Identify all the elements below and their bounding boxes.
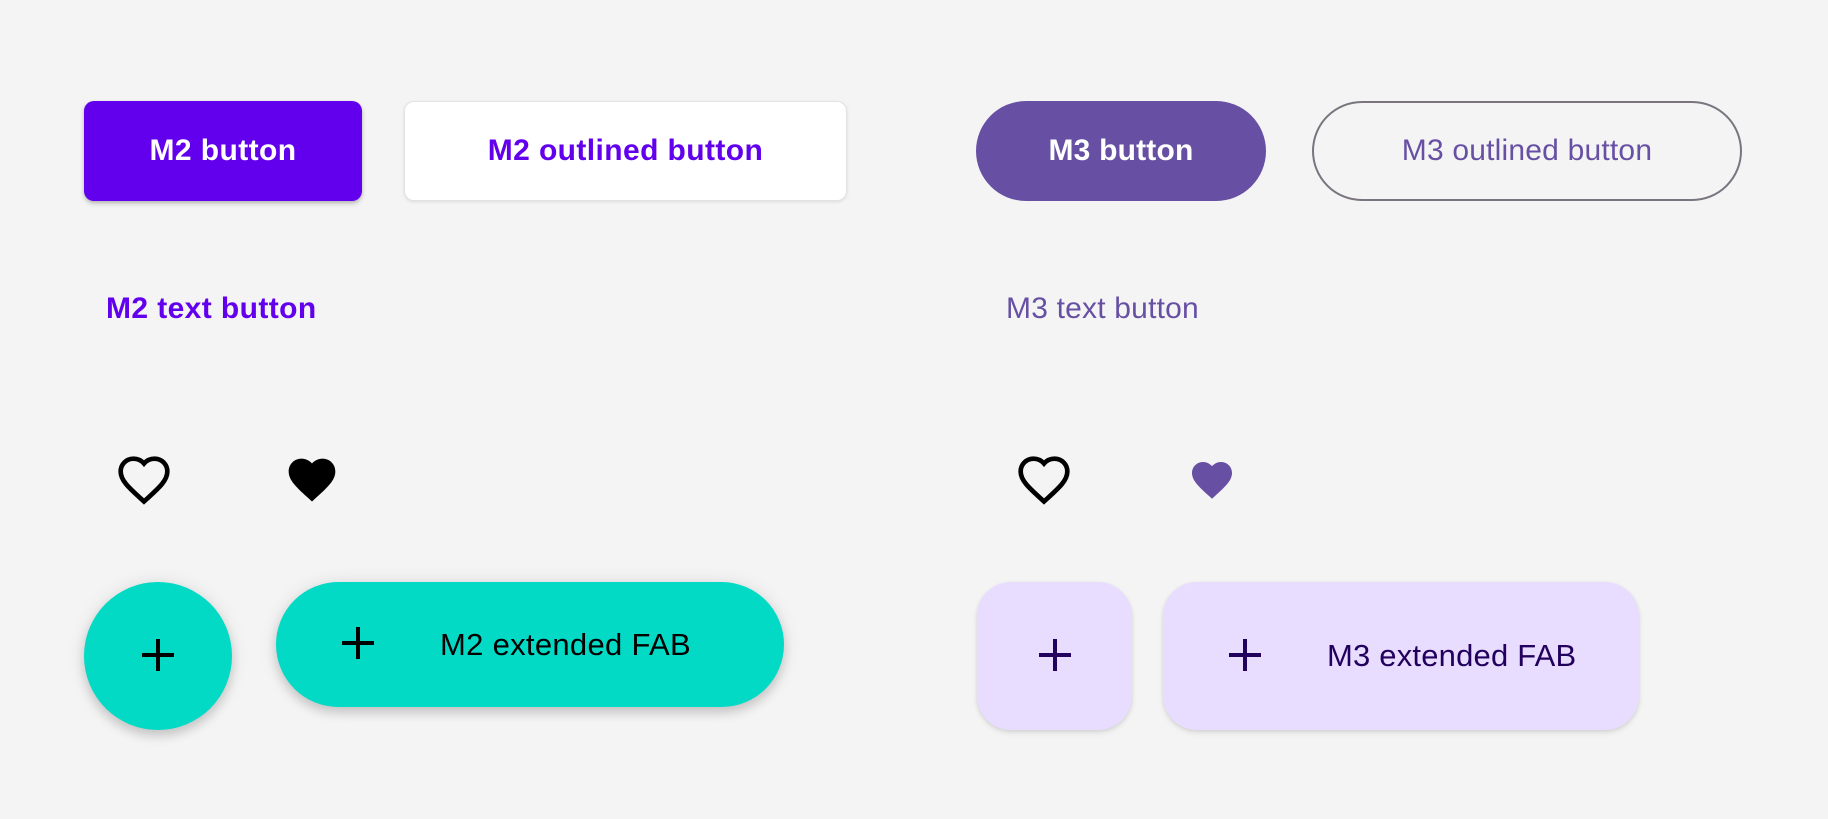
m2-heart-filled-icon-button[interactable] [284, 455, 340, 511]
m2-filled-button-label: M2 button [150, 134, 297, 168]
m3-heart-filled-icon-button[interactable] [1184, 455, 1240, 511]
m3-text-button-label: M3 text button [1006, 292, 1199, 325]
heart-filled-icon [284, 454, 340, 513]
m2-extended-fab-label: M2 extended FAB [440, 627, 691, 663]
heart-filled-icon [1188, 458, 1236, 509]
m2-floating-action-button[interactable] [84, 582, 232, 730]
heart-outline-icon [1016, 454, 1072, 513]
m3-outlined-button-label: M3 outlined button [1402, 134, 1652, 168]
plus-icon [1221, 631, 1269, 682]
m3-heart-outline-icon-button[interactable] [1016, 455, 1072, 511]
m2-heart-outline-icon-button[interactable] [116, 455, 172, 511]
m2-text-button[interactable]: M2 text button [106, 292, 317, 326]
m2-text-button-label: M2 text button [106, 292, 317, 325]
plus-icon [1031, 631, 1079, 682]
plus-icon [134, 631, 182, 682]
m3-text-button[interactable]: M3 text button [1006, 292, 1199, 326]
m2-outlined-button[interactable]: M2 outlined button [404, 101, 847, 201]
m2-filled-button[interactable]: M2 button [84, 101, 362, 201]
m3-extended-floating-action-button[interactable]: M3 extended FAB [1163, 582, 1639, 730]
m2-extended-floating-action-button[interactable]: M2 extended FAB [276, 582, 784, 707]
m2-outlined-button-label: M2 outlined button [488, 134, 763, 168]
m3-outlined-button[interactable]: M3 outlined button [1312, 101, 1742, 201]
component-showcase-canvas: M2 button M2 outlined button M3 button M… [0, 0, 1828, 819]
plus-icon [334, 619, 382, 670]
m3-extended-fab-label: M3 extended FAB [1327, 638, 1576, 674]
m3-filled-button-label: M3 button [1048, 134, 1193, 168]
m3-filled-button[interactable]: M3 button [976, 101, 1266, 201]
m3-floating-action-button[interactable] [977, 582, 1132, 730]
heart-outline-icon [116, 454, 172, 513]
